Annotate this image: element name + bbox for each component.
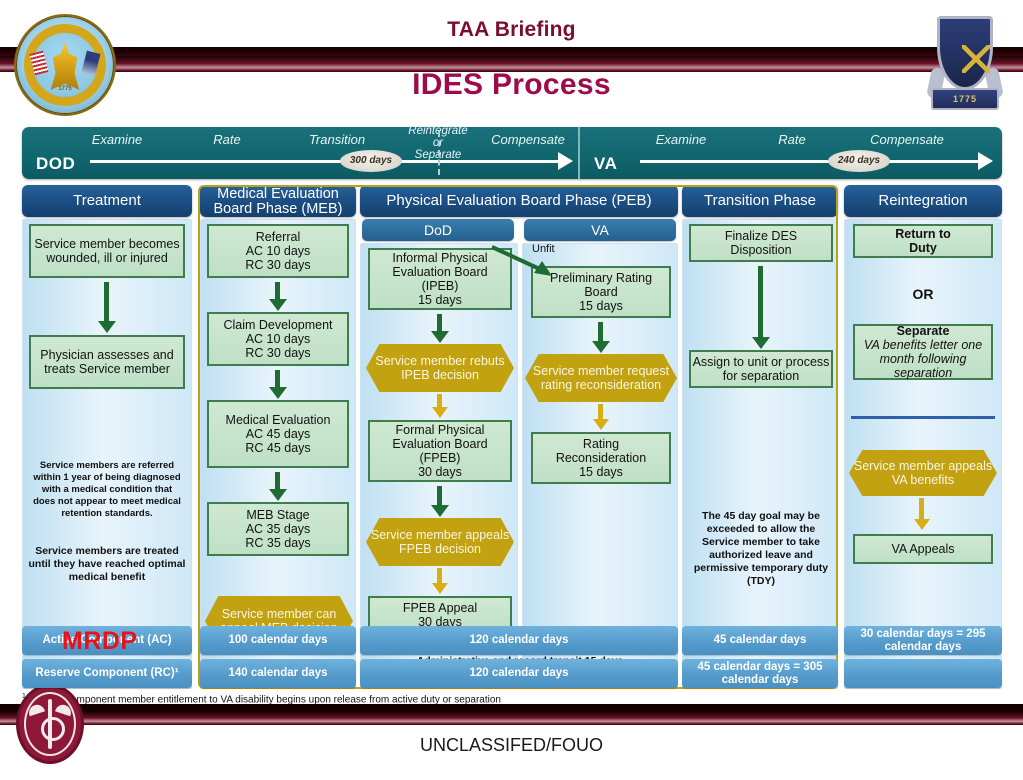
- arrow-wounded-to-physician-icon: [104, 282, 109, 322]
- node-claim-development[interactable]: Claim Development AC 10 days RC 30 days: [207, 312, 349, 366]
- summary-label-rc: Reserve Component (RC)¹: [22, 659, 192, 688]
- node-referral-ac: AC 10 days: [246, 244, 311, 258]
- node-fpeb[interactable]: Formal PhysicalEvaluation Board(FPEB)30 …: [368, 420, 512, 482]
- chevron-appeal-fpeb[interactable]: Service member appeals FPEB decision: [366, 518, 514, 566]
- node-assign-unit[interactable]: Assign to unit or process for separation: [689, 350, 833, 388]
- chevron-rebut-ipeb[interactable]: Service member rebuts IPEB decision: [366, 344, 514, 392]
- timeline-va-org: VA: [594, 154, 617, 174]
- column-header-treatment: Treatment: [22, 185, 192, 217]
- phase-columns: Treatment Service member becomes wounded…: [22, 185, 1002, 689]
- node-meb-stage-title: MEB Stage: [246, 508, 309, 522]
- column-body-transition: Finalize DESDisposition Assign to unit o…: [682, 219, 838, 689]
- node-medical-evaluation-ac: AC 45 days: [246, 427, 311, 441]
- timeline-dod-phase-transition: Transition: [277, 132, 397, 147]
- node-meb-stage[interactable]: MEB Stage AC 35 days RC 35 days: [207, 502, 349, 556]
- arrow-appeal-to-fpeb-appeal-icon: [437, 568, 442, 584]
- summary-rc-peb: 120 calendar days: [360, 659, 678, 688]
- unit-crest-crossed-arrows-icon: [962, 45, 990, 73]
- node-separate-title: Separate: [897, 324, 950, 338]
- node-separate[interactable]: Separate VA benefits letter one month fo…: [853, 324, 993, 380]
- chevron-request-rating-reconsideration[interactable]: Service member request rating reconsider…: [525, 354, 677, 402]
- node-meb-stage-rc: RC 35 days: [245, 536, 310, 550]
- node-referral-title: Referral: [256, 230, 300, 244]
- summary-ac-transition: 45 calendar days: [682, 626, 838, 655]
- node-medical-evaluation-title: Medical Evaluation: [226, 413, 331, 427]
- column-header-reintegration: Reintegration: [844, 185, 1002, 217]
- column-peb: Physical Evaluation Board Phase (PEB) Do…: [360, 185, 678, 689]
- timeline-va-phase-compensate: Compensate: [842, 132, 972, 147]
- timeline-dod-phase-examine: Examine: [62, 132, 172, 147]
- column-transition: Transition Phase Finalize DESDisposition…: [682, 185, 838, 689]
- timeline-dod-phase-rate: Rate: [172, 132, 282, 147]
- arrow-rebut-to-fpeb-icon: [437, 394, 442, 408]
- note-45-day-goal: The 45 day goal may be exceeded to allow…: [689, 510, 833, 588]
- timeline-va-phase-examine: Examine: [626, 132, 736, 147]
- node-claim-development-title: Claim Development: [223, 318, 332, 332]
- column-body-peb-dod: Informal PhysicalEvaluation Board(IPEB)1…: [360, 243, 518, 689]
- note-referral-window: Service members are referred within 1 ye…: [31, 460, 183, 520]
- summary-row-rc: Reserve Component (RC)¹ 140 calendar day…: [22, 659, 1002, 688]
- node-wounded[interactable]: Service member becomes wounded, ill or i…: [29, 224, 185, 278]
- arrow-medeval-to-mebstage-icon: [275, 472, 280, 490]
- arrow-claim-to-medeval-icon: [275, 370, 280, 388]
- column-header-meb: Medical EvaluationBoard Phase (MEB): [200, 185, 356, 217]
- page-title-main: IDES Process: [0, 68, 1023, 102]
- arrow-fpeb-to-appeal-icon: [437, 486, 442, 506]
- column-body-meb: Referral AC 10 days RC 30 days Claim Dev…: [200, 219, 356, 689]
- timeline-dod: DOD Examine Rate Transition Reintegrateo…: [22, 127, 578, 179]
- summary-rc-reintegration: [844, 659, 1002, 688]
- node-return-to-duty[interactable]: Return toDuty: [853, 224, 993, 258]
- chevron-appeals-va-benefits[interactable]: Service member appeals VA benefits: [849, 450, 997, 496]
- summary-ac-reintegration: 30 calendar days = 295 calendar days: [844, 626, 1002, 655]
- column-body-treatment: Service member becomes wounded, ill or i…: [22, 219, 192, 689]
- arrow-finalize-to-assign-icon: [758, 266, 763, 338]
- classification-marking: UNCLASSIFED/FOUO: [0, 735, 1023, 756]
- node-meb-stage-ac: AC 35 days: [246, 522, 311, 536]
- peb-subheaders: DoD VA: [360, 219, 678, 243]
- column-header-peb: Physical Evaluation Board Phase (PEB): [360, 185, 678, 217]
- process-timeline: DOD Examine Rate Transition Reintegrateo…: [22, 127, 1002, 179]
- summary-ac-meb: 100 calendar days: [200, 626, 356, 655]
- timeline-dod-badge: 300 days: [340, 150, 402, 172]
- summary-rc-transition: 45 calendar days = 305 calendar days: [682, 659, 838, 688]
- node-physician[interactable]: Physician assesses and treats Service me…: [29, 335, 185, 389]
- unit-crest-shield: [937, 16, 993, 90]
- slide-footer: UNCLASSIFED/FOUO: [0, 688, 1023, 780]
- column-reintegration: Reintegration Return toDuty OR Separate …: [844, 185, 1002, 689]
- arrow-appeals-to-va-appeals-icon: [919, 498, 924, 520]
- timeline-va-arrowhead-icon: [978, 152, 993, 170]
- timeline-va: VA Examine Rate Compensate 240 days: [578, 127, 1004, 179]
- note-optimal-benefit: Service members are treated until they h…: [27, 545, 187, 584]
- summary-ac-peb: 120 calendar days: [360, 626, 678, 655]
- column-body-reintegration: Return toDuty OR Separate VA benefits le…: [844, 219, 1002, 689]
- timeline-dod-line: [90, 160, 560, 163]
- unfit-label: Unfit: [532, 243, 555, 255]
- timeline-dod-arrowhead-icon: [558, 152, 573, 170]
- node-rating-reconsideration[interactable]: RatingReconsideration15 days: [531, 432, 671, 484]
- summary-rc-meb: 140 calendar days: [200, 659, 356, 688]
- column-body-peb-va: Preliminary RatingBoard15 days Service m…: [522, 243, 678, 689]
- column-meb: Medical EvaluationBoard Phase (MEB) Refe…: [200, 185, 356, 689]
- footer-rule-maroon: [0, 711, 1023, 725]
- timeline-va-badge: 240 days: [828, 150, 890, 172]
- unit-crest-icon: 1775: [929, 12, 1001, 114]
- mrdp-stamp: MRDP: [62, 627, 138, 656]
- node-referral-rc: RC 30 days: [245, 258, 310, 272]
- duration-summary: Active Component (AC) 100 calendar days …: [22, 626, 1002, 689]
- arrow-request-to-reconsideration-icon: [598, 404, 603, 420]
- reintegration-divider: [851, 416, 995, 419]
- slide-header: 1775 TAA Briefing IDES Process 1775: [0, 0, 1023, 122]
- label-or: OR: [853, 288, 993, 301]
- node-separate-detail: VA benefits letter one month following s…: [855, 338, 991, 380]
- timeline-dod-phase-compensate: Compensate: [480, 132, 576, 147]
- column-subheader-va: VA: [524, 219, 676, 241]
- arrow-prelim-to-request-icon: [598, 322, 603, 342]
- arrow-ipeb-to-rebut-icon: [437, 314, 442, 332]
- node-medical-evaluation[interactable]: Medical Evaluation AC 45 days RC 45 days: [207, 400, 349, 468]
- node-medical-evaluation-rc: RC 45 days: [245, 441, 310, 455]
- timeline-va-line: [640, 160, 980, 163]
- ides-process-diagram: DOD Examine Rate Transition Reintegrateo…: [22, 127, 1002, 689]
- node-va-appeals[interactable]: VA Appeals: [853, 534, 993, 564]
- page-title-top: TAA Briefing: [0, 18, 1023, 42]
- timeline-va-phase-rate: Rate: [742, 132, 842, 147]
- column-header-transition: Transition Phase: [682, 185, 838, 217]
- node-claim-development-ac: AC 10 days: [246, 332, 311, 346]
- timeline-dod-divider: [438, 131, 440, 175]
- node-claim-development-rc: RC 30 days: [245, 346, 310, 360]
- timeline-dod-org: DOD: [36, 154, 75, 174]
- column-treatment: Treatment Service member becomes wounded…: [22, 185, 192, 689]
- summary-row-ac: Active Component (AC) 100 calendar days …: [22, 626, 1002, 655]
- column-subheader-dod: DoD: [362, 219, 514, 241]
- unit-crest-scroll: 1775: [931, 88, 999, 110]
- arrow-referral-to-claim-icon: [275, 282, 280, 300]
- node-referral[interactable]: Referral AC 10 days RC 30 days: [207, 224, 349, 278]
- node-finalize-des[interactable]: Finalize DESDisposition: [689, 224, 833, 262]
